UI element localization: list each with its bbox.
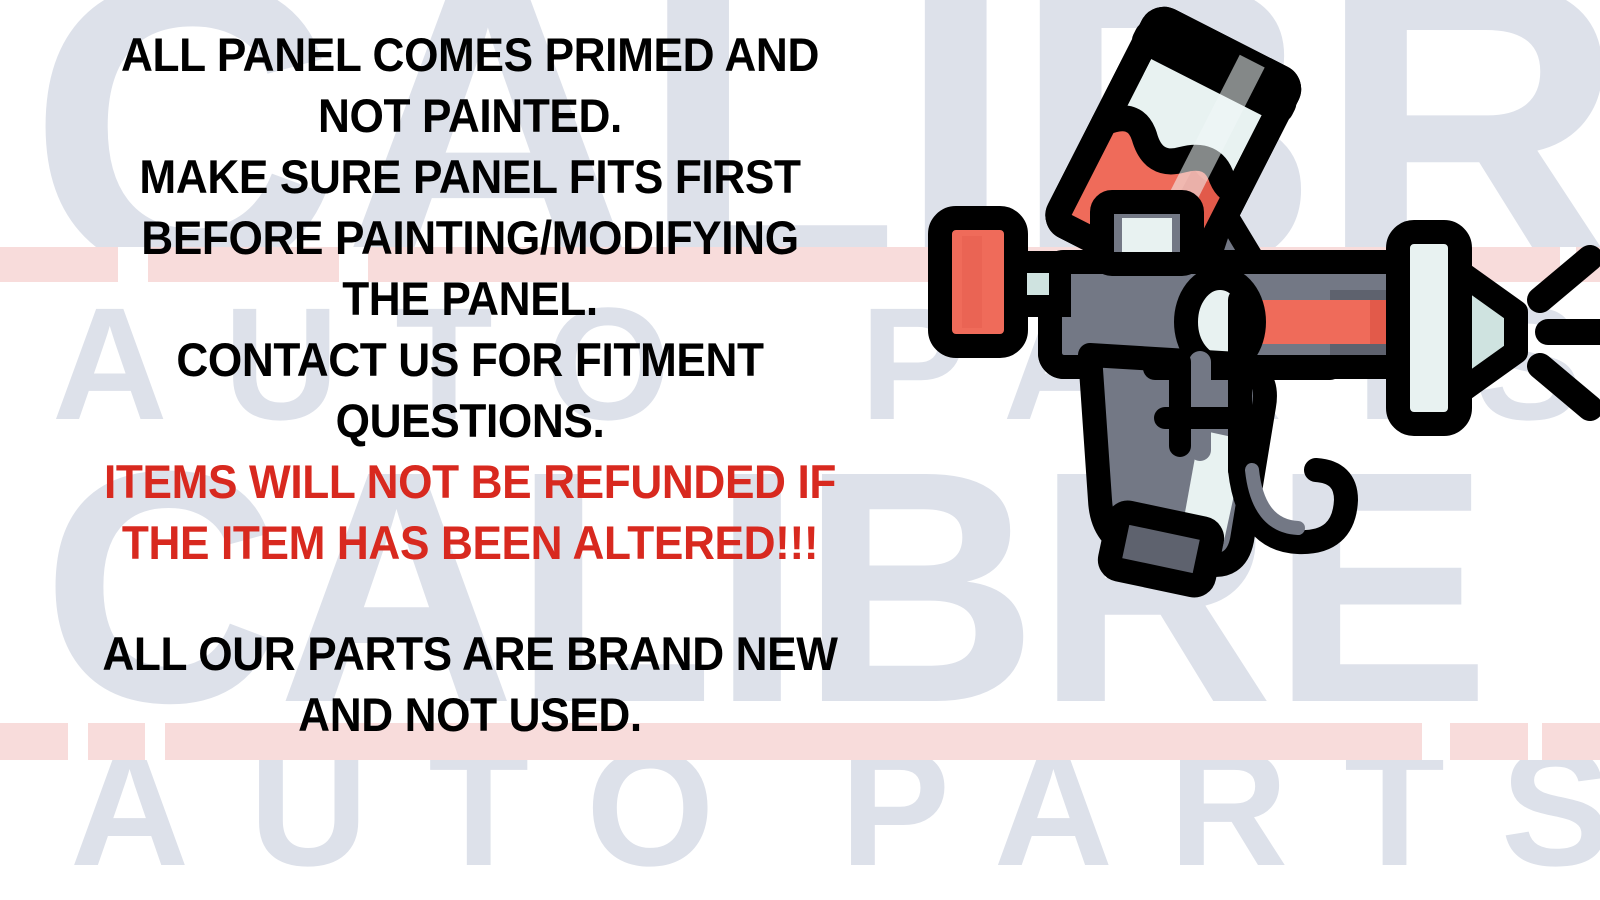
spray-lines [1540,258,1600,408]
watermark-auto-bottom: AUTO [70,742,774,874]
notice-line: THE PANEL. [66,268,874,329]
notice-line: BEFORE PAINTING/MODIFYING [66,207,874,268]
notice-line: CONTACT US FOR FITMENT [66,329,874,390]
notice-line: AND NOT USED. [66,684,874,745]
notice-line: ALL PANEL COMES PRIMED AND [66,24,874,85]
notice-line: ALL OUR PARTS ARE BRAND NEW [66,623,874,684]
notice-line: QUESTIONS. [66,390,874,451]
notice-line: NOT PAINTED. [66,85,874,146]
text-spacer [40,573,900,623]
notice-text-block: ALL PANEL COMES PRIMED AND NOT PAINTED. … [40,24,900,745]
warning-line: THE ITEM HAS BEEN ALTERED!!! [66,512,874,573]
warning-line: ITEMS WILL NOT BE REFUNDED IF [66,451,874,512]
band-notch [1528,723,1542,760]
spray-gun-icon [940,8,1600,588]
banner-canvas: CALIBRE AUTO PARTS CALIBRE AUTO PARTS [0,0,1600,900]
spray-gun-illustration [900,0,1600,660]
notice-line: MAKE SURE PANEL FITS FIRST [66,146,874,207]
watermark-parts-bottom: PARTS [840,742,1600,874]
band-notch [1422,723,1450,760]
